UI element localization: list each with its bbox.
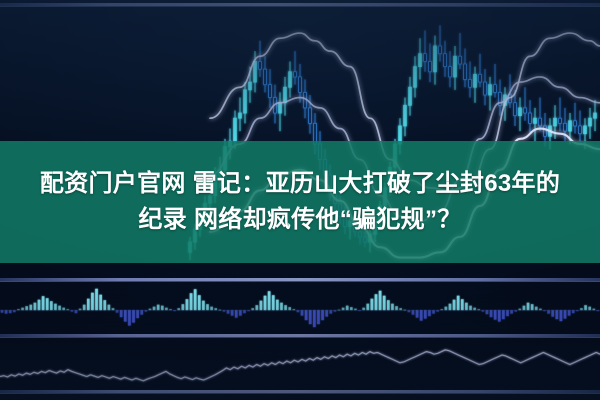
headline-overlay-band: 配资门户官网 雷记：亚历山大打破了尘封63年的 纪录 网络却疯传他“骗犯规”？: [0, 141, 600, 263]
chart-background-image: 配资门户官网 雷记：亚历山大打破了尘封63年的 纪录 网络却疯传他“骗犯规”？: [0, 0, 600, 400]
macd-chart-svg: [0, 281, 600, 335]
macd-histogram-panel: [0, 281, 600, 335]
panel-divider-2-thin: [0, 337, 600, 338]
panel-divider-1-thin: [0, 281, 600, 282]
headline-line-1: 配资门户官网 雷记：亚历山大打破了尘封63年的: [20, 166, 580, 202]
headline-line-2: 纪录 网络却疯传他“骗犯规”？: [20, 202, 580, 238]
top-divider-rule-thin: [0, 6, 600, 7]
headline-text: 配资门户官网 雷记：亚历山大打破了尘封63年的 纪录 网络却疯传他“骗犯规”？: [20, 166, 580, 238]
panel-divider-3-thin: [0, 393, 600, 394]
indicator-line-panel: [0, 337, 600, 392]
indicator-chart-svg: [0, 337, 600, 392]
